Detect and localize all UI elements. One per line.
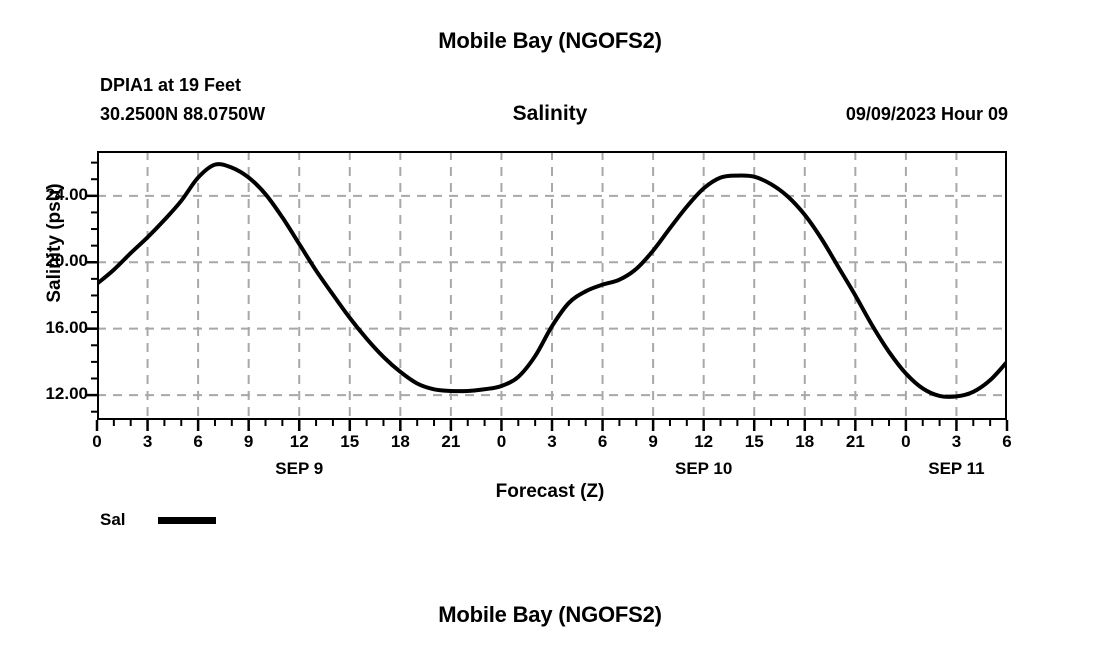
model-run-timestamp: 09/09/2023 Hour 09 [846,104,1008,125]
x-axis-day-labels: SEP 9SEP 10SEP 11 [0,459,1100,483]
chart-legend: Sal [100,508,216,532]
x-tick-label: 0 [886,432,926,452]
x-axis-tick-labels: 036912151821036912151821036 [0,432,1100,456]
legend-label: Sal [100,510,158,530]
x-tick-label: 12 [684,432,724,452]
x-tick-label: 15 [734,432,774,452]
legend-color-swatch [158,517,216,524]
y-tick-label: 24.00 [8,185,88,205]
y-tick-label: 12.00 [8,384,88,404]
x-tick-label: 3 [128,432,168,452]
x-day-label: SEP 11 [896,459,1016,479]
x-tick-label: 3 [936,432,976,452]
y-axis-tick-labels: 12.0016.0020.0024.00 [0,151,88,420]
x-tick-label: 9 [633,432,673,452]
axis-ticks [83,151,1021,443]
x-tick-label: 21 [431,432,471,452]
x-tick-label: 6 [583,432,623,452]
x-tick-marks [97,420,1007,431]
x-tick-label: 6 [178,432,218,452]
x-tick-label: 12 [279,432,319,452]
x-axis-title: Forecast (Z) [0,481,1100,503]
x-tick-label: 6 [987,432,1027,452]
x-tick-label: 3 [532,432,572,452]
y-tick-marks [86,163,97,412]
x-tick-label: 18 [785,432,825,452]
x-tick-label: 0 [481,432,521,452]
footer-title: Mobile Bay (NGOFS2) [0,602,1100,628]
y-tick-label: 16.00 [8,318,88,338]
x-tick-label: 9 [229,432,269,452]
page-title: Mobile Bay (NGOFS2) [0,28,1100,54]
x-tick-label: 0 [77,432,117,452]
x-tick-label: 18 [380,432,420,452]
x-tick-label: 15 [330,432,370,452]
station-label: DPIA1 at 19 Feet [100,75,241,96]
plot-area [97,151,1007,420]
x-tick-label: 21 [835,432,875,452]
x-day-label: SEP 9 [239,459,359,479]
y-tick-label: 20.00 [8,251,88,271]
x-day-label: SEP 10 [644,459,764,479]
